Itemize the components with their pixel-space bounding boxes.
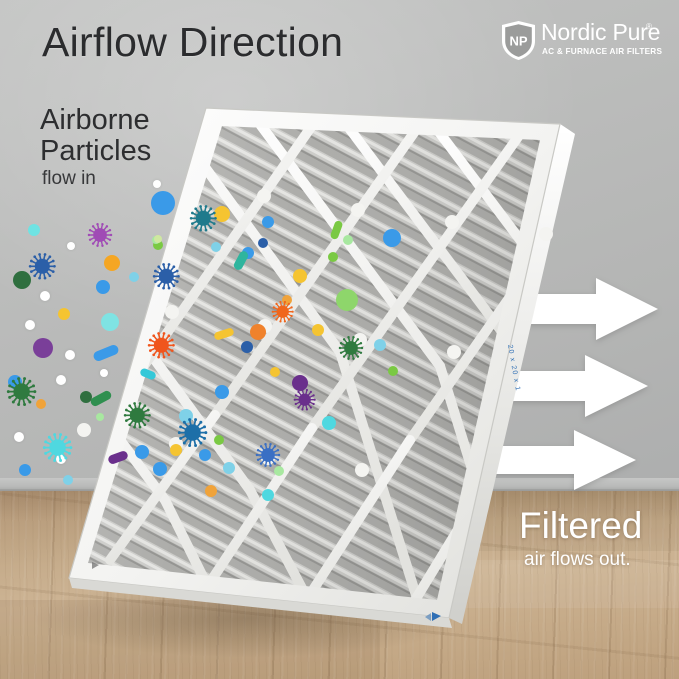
virus-particle	[87, 222, 113, 248]
logo-mark-text: NP	[509, 34, 527, 49]
airborne-particle-dot	[14, 432, 24, 442]
virus-particle	[189, 204, 218, 233]
airborne-particle-dot	[100, 369, 108, 377]
airborne-particle-dot	[101, 313, 119, 331]
captured-particle-dot	[153, 462, 167, 476]
airborne-particle-dot	[63, 475, 73, 485]
captured-particle-dot	[262, 489, 274, 501]
airborne-particle-dot	[96, 280, 110, 294]
logo-registered-mark: ®	[646, 22, 652, 31]
captured-particle-dot	[199, 449, 211, 461]
airborne-particles-line2: Particles	[40, 136, 151, 167]
captured-particle-dot	[223, 462, 235, 474]
logo-tagline: AC & FURNACE AIR FILTERS	[542, 47, 662, 56]
brand-logo: NP Nordic Pure ® AC & FURNACE AIR FILTER…	[500, 20, 660, 62]
product-infographic: 20 x 20 x 1 Airflow Direction Airborne P…	[0, 0, 679, 679]
captured-particle-dot	[388, 366, 398, 376]
captured-particle-dot	[328, 252, 338, 262]
airborne-particle-dot	[56, 375, 66, 385]
airborne-particle-dot	[19, 464, 31, 476]
virus-particle	[338, 335, 364, 361]
airborne-particle-dot	[104, 255, 120, 271]
airborne-particle-dot	[28, 224, 40, 236]
virus-particle	[293, 388, 316, 411]
captured-particle-dot	[374, 339, 386, 351]
virus-particle	[152, 262, 181, 291]
captured-particle-dot	[250, 324, 266, 340]
virus-particle	[147, 331, 176, 360]
airborne-particle-dot	[67, 242, 75, 250]
air-flows-out-sublabel: air flows out.	[524, 549, 631, 571]
captured-particle-dot	[241, 341, 253, 353]
virus-particle	[123, 401, 152, 430]
airborne-particle-dot	[153, 180, 161, 188]
captured-particle-dot	[215, 385, 229, 399]
airborne-particles-label: Airborne Particles	[40, 105, 151, 167]
airborne-particle-dot	[129, 272, 139, 282]
virus-particle	[6, 376, 37, 407]
airborne-particle-dot	[151, 191, 175, 215]
virus-particle	[42, 432, 73, 463]
captured-particle-dot	[336, 289, 358, 311]
virus-particle	[28, 252, 57, 281]
captured-particle-dot	[312, 324, 324, 336]
airborne-particle-dot	[96, 413, 104, 421]
captured-particle-dot	[214, 435, 224, 445]
captured-particle-dot	[262, 216, 274, 228]
captured-particle-dot	[322, 416, 336, 430]
airborne-particle-dot	[40, 291, 50, 301]
captured-particle-dot	[205, 485, 217, 497]
shield-icon: NP	[500, 20, 537, 61]
page-title: Airflow Direction	[42, 19, 343, 66]
captured-particle-dot	[293, 269, 307, 283]
airborne-particles-line1: Airborne	[40, 105, 151, 136]
captured-particle-dot	[211, 242, 221, 252]
airborne-particle-dot	[65, 350, 75, 360]
virus-particle	[271, 300, 294, 323]
filtered-label: Filtered	[519, 505, 642, 547]
captured-particle-dot	[135, 445, 149, 459]
airborne-particle-dot	[33, 338, 53, 358]
captured-particle-dot	[343, 235, 353, 245]
airborne-particle-dot	[58, 308, 70, 320]
captured-particle-dot	[258, 238, 268, 248]
captured-particle-dot	[383, 229, 401, 247]
virus-particle	[177, 417, 208, 448]
logo-brand-name: Nordic Pure	[541, 19, 660, 46]
airborne-particle-dot	[154, 235, 162, 243]
virus-particle	[255, 442, 281, 468]
captured-particle-dot	[270, 367, 280, 377]
airborne-particle-dot	[25, 320, 35, 330]
flow-in-sublabel: flow in	[42, 168, 96, 190]
